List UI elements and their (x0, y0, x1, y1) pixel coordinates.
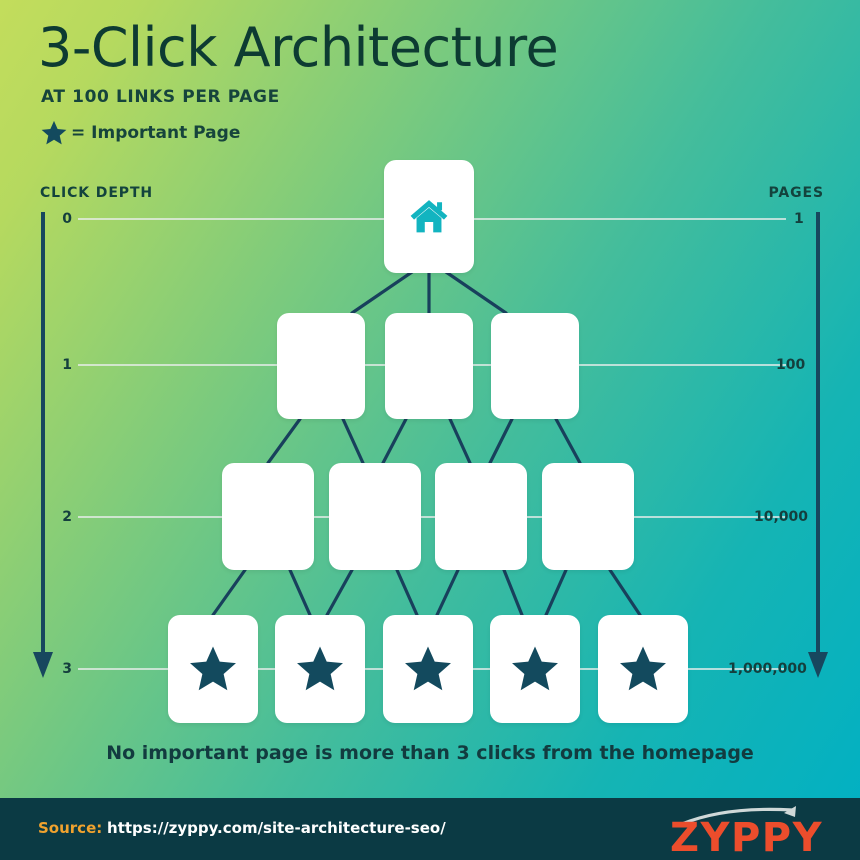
pages-tick-2: 10,000 (754, 509, 808, 525)
star-icon (187, 643, 239, 695)
pages-tick-1: 100 (776, 357, 805, 373)
pages-tick-3: 1,000,000 (728, 661, 807, 677)
gridline-group (78, 219, 786, 669)
depth-tick-1: 1 (62, 357, 72, 373)
legend-label: = Important Page (71, 123, 240, 143)
star-icon (294, 643, 346, 695)
node-homepage[interactable] (384, 160, 474, 273)
depth-tick-0: 0 (62, 211, 72, 227)
home-icon (406, 194, 452, 240)
zyppy-wordmark: ZYPPY (670, 815, 823, 856)
source-url[interactable]: https://zyppy.com/site-architecture-seo/ (107, 819, 446, 837)
source-line: Source: https://zyppy.com/site-architect… (38, 819, 446, 837)
node-depth1-3[interactable] (491, 313, 579, 419)
star-icon (509, 643, 561, 695)
legend: = Important Page (40, 119, 240, 147)
node-depth2-1[interactable] (222, 463, 314, 570)
click-depth-arrow-icon (33, 212, 53, 678)
zyppy-logo[interactable]: ZYPPY (664, 804, 824, 856)
depth-tick-3: 3 (62, 661, 72, 677)
node-depth2-4[interactable] (542, 463, 634, 570)
star-icon (402, 643, 454, 695)
depth-tick-2: 2 (62, 509, 72, 525)
star-icon (40, 119, 68, 147)
click-depth-caption: CLICK DEPTH (40, 185, 153, 201)
pages-arrow-icon (808, 212, 828, 678)
node-depth3-3[interactable] (383, 615, 473, 723)
source-label: Source: (38, 819, 102, 837)
node-depth1-2[interactable] (385, 313, 473, 419)
page-subtitle: AT 100 LINKS PER PAGE (41, 87, 280, 107)
node-depth1-1[interactable] (277, 313, 365, 419)
node-depth2-2[interactable] (329, 463, 421, 570)
node-depth2-3[interactable] (435, 463, 527, 570)
pages-tick-0: 1 (794, 211, 804, 227)
node-depth3-2[interactable] (275, 615, 365, 723)
star-icon (617, 643, 669, 695)
footer-bar: Source: https://zyppy.com/site-architect… (0, 798, 860, 860)
node-depth3-4[interactable] (490, 615, 580, 723)
pages-caption: PAGES (769, 185, 824, 201)
page-title: 3-Click Architecture (38, 18, 558, 78)
node-depth3-5[interactable] (598, 615, 688, 723)
node-depth3-1[interactable] (168, 615, 258, 723)
summary-caption: No important page is more than 3 clicks … (0, 742, 860, 764)
infographic-canvas: 3-Click Architecture AT 100 LINKS PER PA… (0, 0, 860, 860)
